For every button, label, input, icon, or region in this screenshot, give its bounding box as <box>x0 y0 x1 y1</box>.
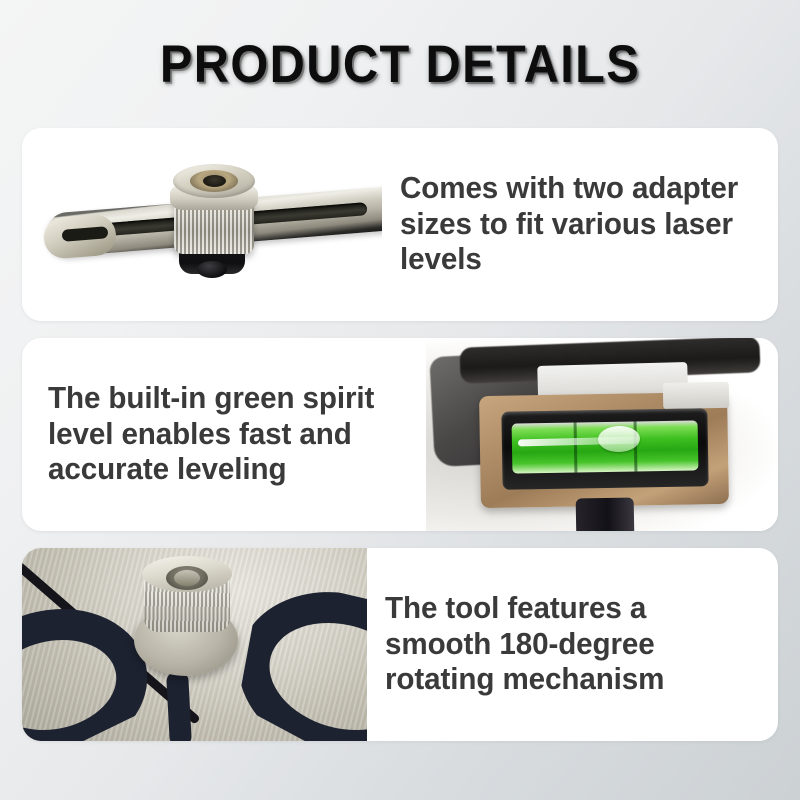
vial-mark-left <box>574 422 578 472</box>
product-photo-spirit-level <box>426 338 778 531</box>
product-photo-adapter-bracket <box>22 128 382 321</box>
feature-text-spirit-level: The built-in green spirit level enables … <box>48 381 405 488</box>
feature-card-spirit-level: The built-in green spirit level enables … <box>22 338 778 531</box>
feature-card-list: Comes with two adapter sizes to fit vari… <box>0 128 800 741</box>
page-title: PRODUCT DETAILS <box>160 34 640 95</box>
feature-text-rotating-mechanism: The tool features a smooth 180-degree ro… <box>385 591 755 698</box>
feature-text-container: The built-in green spirit level enables … <box>22 338 426 531</box>
mount-stem-shape <box>576 497 635 531</box>
product-photo-rotating-disc <box>22 548 367 741</box>
feature-text-container: Comes with two adapter sizes to fit vari… <box>382 128 778 321</box>
screw-bore-shape <box>190 170 238 192</box>
feature-card-adapter-sizes: Comes with two adapter sizes to fit vari… <box>22 128 778 321</box>
page-header: PRODUCT DETAILS <box>0 0 800 128</box>
feature-card-rotating-mechanism: The tool features a smooth 180-degree ro… <box>22 548 778 741</box>
feature-text-container: The tool features a smooth 180-degree ro… <box>367 548 778 741</box>
center-slot-shape <box>166 671 192 741</box>
feature-text-adapter-sizes: Comes with two adapter sizes to fit vari… <box>400 171 755 278</box>
photo-scene <box>22 128 382 321</box>
bolt-head-shape <box>174 570 200 586</box>
